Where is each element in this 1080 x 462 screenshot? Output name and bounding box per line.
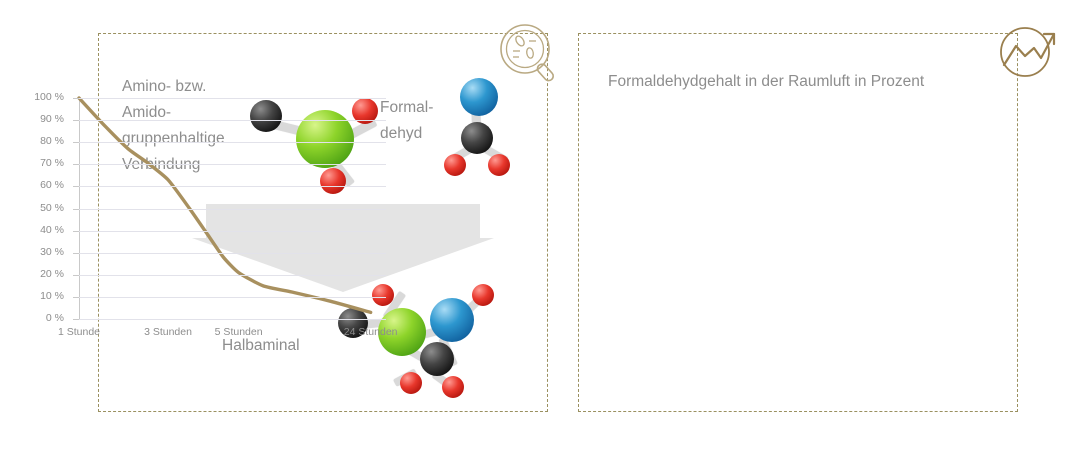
chart-x-label: 24 Stunden bbox=[344, 326, 398, 338]
atom-hydrogen bbox=[400, 372, 422, 394]
chart-y-axis-labels: 100 %90 %80 %70 %60 %50 %40 %30 %20 %10 … bbox=[12, 98, 64, 319]
atom-oxygen bbox=[472, 284, 494, 306]
chart-y-tick bbox=[73, 186, 79, 187]
chart-y-label: 40 % bbox=[40, 224, 64, 236]
chart-y-tick bbox=[73, 253, 79, 254]
chart-x-label: 3 Stunden bbox=[144, 326, 192, 338]
atom-hydrogen bbox=[442, 376, 464, 398]
magnifier-molecule-icon bbox=[496, 22, 564, 90]
chart-x-axis-labels: 1 Stunde3 Stunden5 Stunden24 Stunden bbox=[79, 326, 399, 346]
chart-gridline bbox=[79, 209, 386, 210]
atom-hydrogen bbox=[444, 154, 466, 176]
chart-y-tick bbox=[73, 120, 79, 121]
chart-y-tick bbox=[73, 164, 79, 165]
chart-x-label: 5 Stunden bbox=[215, 326, 263, 338]
atom-carbon bbox=[461, 122, 493, 154]
chart-gridline bbox=[79, 186, 386, 187]
chart-plot-area bbox=[79, 98, 386, 319]
chart-x-label: 1 Stunde bbox=[58, 326, 100, 338]
chart-y-tick bbox=[73, 98, 79, 99]
chart-y-tick bbox=[73, 297, 79, 298]
chart-y-label: 100 % bbox=[34, 91, 64, 103]
chart-y-label: 80 % bbox=[40, 135, 64, 147]
chart-gridline bbox=[79, 231, 386, 232]
chart-gridline bbox=[79, 120, 386, 121]
chart-gridline bbox=[79, 319, 386, 320]
chart-title: Formaldehydgehalt in der Raumluft in Pro… bbox=[608, 73, 924, 91]
chart-y-tick bbox=[73, 319, 79, 320]
chart-y-label: 20 % bbox=[40, 268, 64, 280]
chart-gridline bbox=[79, 253, 386, 254]
line-chart: Formaldehydgehalt in der Raumluft in Pro… bbox=[578, 33, 1018, 412]
chart-y-tick bbox=[73, 275, 79, 276]
chart-gridline bbox=[79, 275, 386, 276]
atom-oxygen-large bbox=[430, 298, 474, 342]
chart-y-tick bbox=[73, 231, 79, 232]
formaldehyde-molecule bbox=[444, 78, 524, 184]
chart-y-tick bbox=[73, 209, 79, 210]
atom-carbon bbox=[420, 342, 454, 376]
chart-y-tick bbox=[73, 142, 79, 143]
chart-y-label: 70 % bbox=[40, 157, 64, 169]
chart-y-label: 30 % bbox=[40, 246, 64, 258]
chart-gridline bbox=[79, 142, 386, 143]
chart-gridline bbox=[79, 297, 386, 298]
chart-y-label: 10 % bbox=[40, 290, 64, 302]
chart-y-label: 60 % bbox=[40, 179, 64, 191]
chart-gridline bbox=[79, 164, 386, 165]
chart-y-label: 50 % bbox=[40, 202, 64, 214]
atom-oxygen bbox=[460, 78, 498, 116]
chart-y-label: 90 % bbox=[40, 113, 64, 125]
chart-y-label: 0 % bbox=[46, 312, 64, 324]
atom-hydrogen bbox=[488, 154, 510, 176]
chart-gridline bbox=[79, 98, 386, 99]
